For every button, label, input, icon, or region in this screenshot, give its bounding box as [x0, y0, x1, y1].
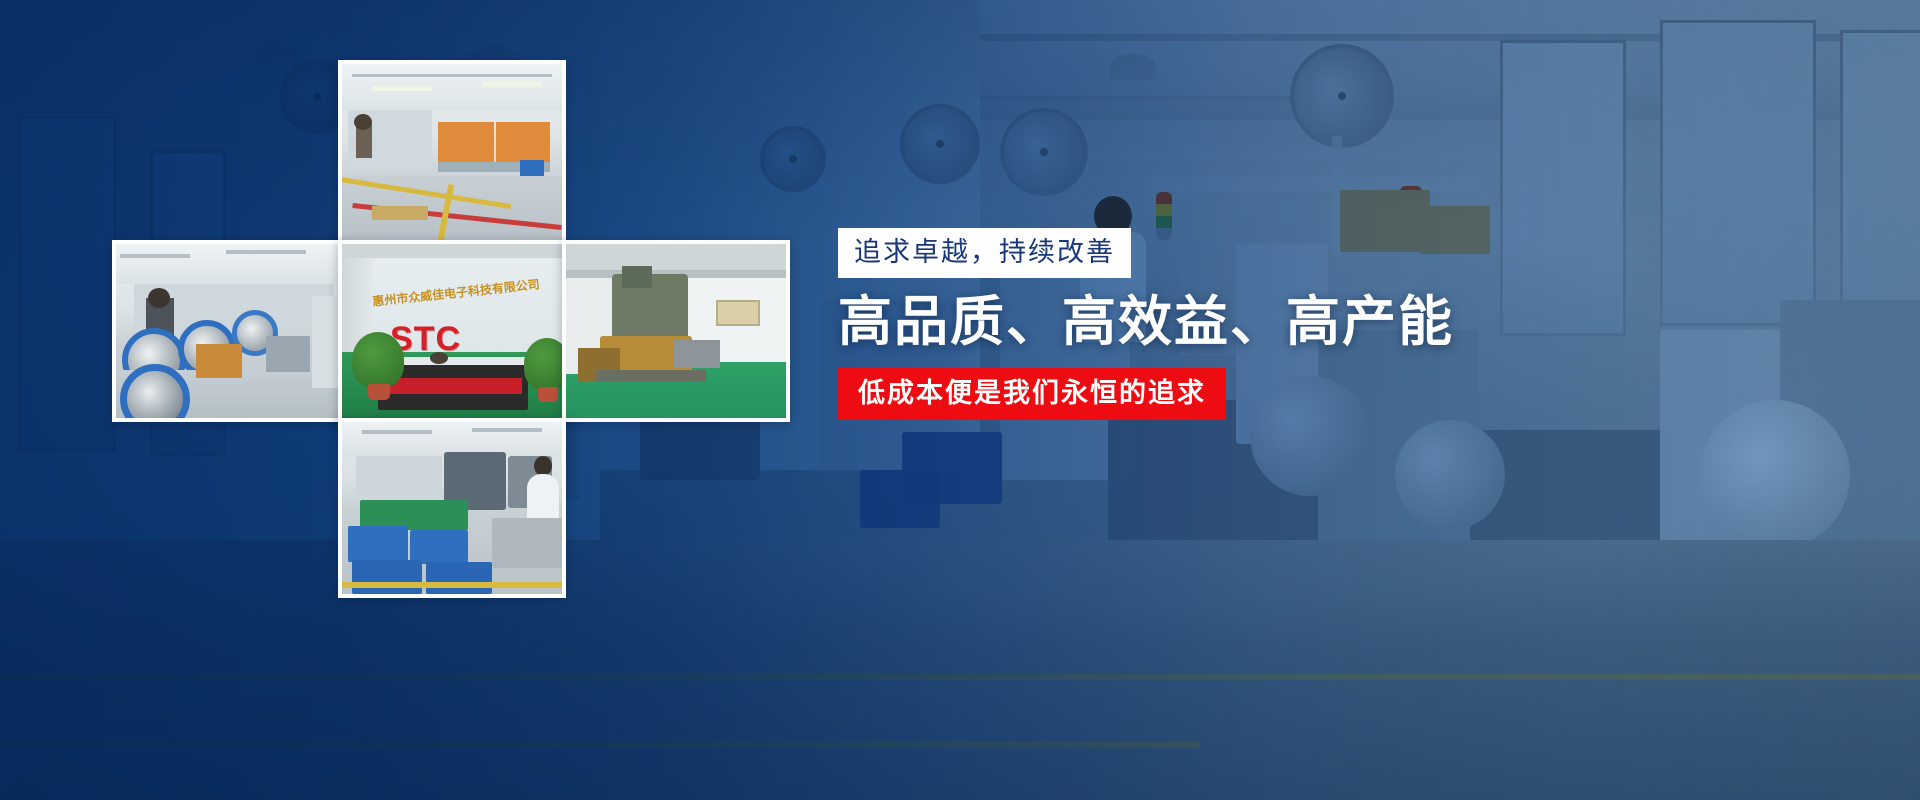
- collage-photo-left[interactable]: [112, 240, 342, 422]
- hero-banner: 惠州市众威佳电子科技有限公司 STC HUIZHOU SHIZHONGWEIJI…: [0, 0, 1920, 800]
- collage-photo-center[interactable]: 惠州市众威佳电子科技有限公司 STC HUIZHOU SHIZHONGWEIJI…: [338, 240, 566, 422]
- collage-photo-top[interactable]: [338, 60, 566, 246]
- photo-collage: 惠州市众威佳电子科技有限公司 STC HUIZHOU SHIZHONGWEIJI…: [0, 0, 900, 800]
- hero-copy: 追求卓越，持续改善 高品质、高效益、高产能 低成本便是我们永恒的追求: [838, 228, 1398, 420]
- tagline: 追求卓越，持续改善: [838, 228, 1131, 278]
- collage-photo-right[interactable]: [562, 240, 790, 422]
- collage-photo-bottom[interactable]: [338, 418, 566, 598]
- headline: 高品质、高效益、高产能: [838, 292, 1398, 352]
- cta-banner[interactable]: 低成本便是我们永恒的追求: [838, 368, 1226, 420]
